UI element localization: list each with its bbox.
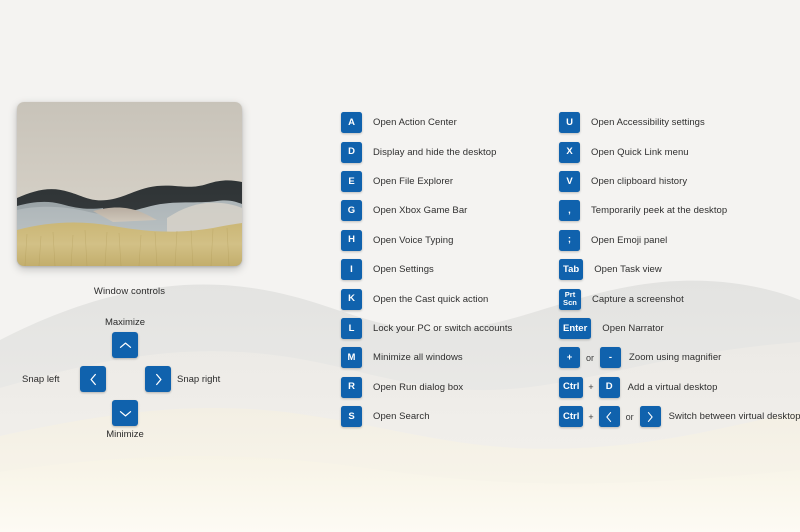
- key-cap[interactable]: ,: [559, 200, 580, 221]
- shortcut-description: Temporarily peek at the desktop: [591, 205, 727, 216]
- key-cap[interactable]: Ctrl: [559, 377, 583, 398]
- key-label: D: [348, 147, 355, 157]
- key-chevron-left-icon[interactable]: [599, 406, 620, 427]
- snap-left-caption: Snap left: [22, 374, 60, 385]
- shortcut-row: +or-Zoom using magnifier: [559, 343, 800, 372]
- key-joiner-plus: +: [583, 382, 598, 392]
- shortcut-description: Open Emoji panel: [591, 235, 667, 246]
- key-joiner-or: or: [580, 353, 600, 363]
- wallpaper-preview: [17, 102, 242, 266]
- shortcuts-poster: Window controls Maximize Snap left Snap …: [0, 0, 800, 532]
- shortcut-description: Open Settings: [373, 264, 434, 275]
- shortcut-row: AOpen Action Center: [341, 108, 512, 137]
- key-cap[interactable]: PrtScn: [559, 289, 581, 310]
- key-cap[interactable]: ;: [559, 230, 580, 251]
- key-label: ,: [568, 206, 571, 216]
- key-label: -: [609, 353, 612, 363]
- chevron-up-icon: [119, 341, 132, 350]
- shortcut-row: UOpen Accessibility settings: [559, 108, 800, 137]
- shortcut-description: Open Xbox Game Bar: [373, 205, 467, 216]
- shortcut-row: HOpen Voice Typing: [341, 226, 512, 255]
- key-label: ;: [568, 235, 571, 245]
- shortcut-row: Ctrl+orSwitch between virtual desktops: [559, 402, 800, 431]
- shortcut-description: Switch between virtual desktops: [669, 411, 800, 422]
- shortcut-description: Open the Cast quick action: [373, 294, 488, 305]
- key-cap[interactable]: E: [341, 171, 362, 192]
- key-cap[interactable]: U: [559, 112, 580, 133]
- window-controls-panel: Window controls Maximize Snap left Snap …: [0, 0, 300, 532]
- shortcut-description: Open Search: [373, 411, 430, 422]
- key-label: I: [350, 265, 353, 275]
- shortcut-row: EnterOpen Narrator: [559, 314, 800, 343]
- shortcut-row: XOpen Quick Link menu: [559, 137, 800, 166]
- chevron-left-icon: [89, 373, 98, 386]
- key-label: G: [348, 206, 355, 216]
- shortcut-description: Open Action Center: [373, 117, 457, 128]
- shortcut-description: Open File Explorer: [373, 176, 453, 187]
- key-cap[interactable]: X: [559, 142, 580, 163]
- shortcut-description: Capture a screenshot: [592, 294, 684, 305]
- shortcut-row: PrtScnCapture a screenshot: [559, 284, 800, 313]
- chevron-down-icon: [119, 409, 132, 418]
- shortcut-row: MMinimize all windows: [341, 343, 512, 372]
- shortcut-row: Ctrl+DAdd a virtual desktop: [559, 373, 800, 402]
- key-label: U: [566, 118, 573, 128]
- snap-left-key[interactable]: [80, 366, 106, 392]
- key-label: Ctrl: [563, 382, 579, 392]
- key-cap[interactable]: Ctrl: [559, 406, 583, 427]
- shortcut-description: Minimize all windows: [373, 352, 463, 363]
- shortcut-description: Open Run dialog box: [373, 382, 463, 393]
- key-label: K: [348, 294, 355, 304]
- maximize-caption: Maximize: [0, 317, 250, 328]
- chevron-right-icon: [154, 373, 163, 386]
- shortcut-description: Open Quick Link menu: [591, 147, 689, 158]
- shortcut-description: Zoom using magnifier: [629, 352, 721, 363]
- maximize-key[interactable]: [112, 332, 138, 358]
- key-cap[interactable]: Tab: [559, 259, 583, 280]
- key-label: Tab: [563, 265, 579, 275]
- key-cap[interactable]: -: [600, 347, 621, 368]
- shortcut-list-left: AOpen Action CenterDDisplay and hide the…: [341, 108, 512, 431]
- key-label: V: [566, 177, 572, 187]
- shortcut-row: EOpen File Explorer: [341, 167, 512, 196]
- key-label: +: [567, 353, 573, 363]
- shortcut-description: Display and hide the desktop: [373, 147, 496, 158]
- key-label: R: [348, 382, 355, 392]
- key-label: L: [349, 324, 355, 334]
- shortcut-row: DDisplay and hide the desktop: [341, 137, 512, 166]
- shortcut-description: Open clipboard history: [591, 176, 687, 187]
- shortcut-description: Open Accessibility settings: [591, 117, 705, 128]
- shortcut-row: SOpen Search: [341, 402, 512, 431]
- shortcut-row: IOpen Settings: [341, 255, 512, 284]
- key-label: D: [606, 382, 613, 392]
- shortcut-row: GOpen Xbox Game Bar: [341, 196, 512, 225]
- key-label: X: [566, 147, 572, 157]
- shortcut-description: Add a virtual desktop: [628, 382, 718, 393]
- window-controls-caption: Window controls: [0, 286, 259, 297]
- shortcut-row: ,Temporarily peek at the desktop: [559, 196, 800, 225]
- key-joiner-or: or: [620, 412, 640, 422]
- key-label: Enter: [563, 324, 587, 334]
- shortcut-row: VOpen clipboard history: [559, 167, 800, 196]
- shortcut-description: Lock your PC or switch accounts: [373, 323, 512, 334]
- key-cap[interactable]: D: [341, 142, 362, 163]
- arrow-key-cluster: Maximize Snap left Snap right: [0, 312, 259, 442]
- key-joiner-plus: +: [583, 412, 598, 422]
- key-cap[interactable]: K: [341, 289, 362, 310]
- minimize-caption: Minimize: [0, 429, 250, 440]
- key-label: H: [348, 235, 355, 245]
- shortcut-description: Open Narrator: [602, 323, 663, 334]
- key-label: A: [348, 118, 355, 128]
- key-cap[interactable]: M: [341, 347, 362, 368]
- key-cap[interactable]: G: [341, 200, 362, 221]
- key-cap[interactable]: H: [341, 230, 362, 251]
- shortcut-row: KOpen the Cast quick action: [341, 284, 512, 313]
- chevron-left-icon: [605, 411, 613, 423]
- shortcut-row: LLock your PC or switch accounts: [341, 314, 512, 343]
- shortcut-row: ;Open Emoji panel: [559, 226, 800, 255]
- shortcut-list-right: UOpen Accessibility settingsXOpen Quick …: [559, 108, 800, 431]
- shortcut-row: TabOpen Task view: [559, 255, 800, 284]
- minimize-key[interactable]: [112, 400, 138, 426]
- key-cap[interactable]: A: [341, 112, 362, 133]
- snap-right-caption: Snap right: [177, 374, 220, 385]
- key-cap[interactable]: R: [341, 377, 362, 398]
- key-cap[interactable]: D: [599, 377, 620, 398]
- shortcut-row: ROpen Run dialog box: [341, 373, 512, 402]
- key-label-second-line: Scn: [563, 299, 577, 307]
- snap-right-key[interactable]: [145, 366, 171, 392]
- key-label: S: [348, 412, 354, 422]
- key-label: Ctrl: [563, 412, 579, 422]
- key-cap[interactable]: L: [341, 318, 362, 339]
- key-chevron-right-icon[interactable]: [640, 406, 661, 427]
- key-label: M: [348, 353, 356, 363]
- key-cap[interactable]: I: [341, 259, 362, 280]
- key-cap[interactable]: S: [341, 406, 362, 427]
- key-cap[interactable]: Enter: [559, 318, 591, 339]
- chevron-right-icon: [646, 411, 654, 423]
- key-label: E: [348, 177, 354, 187]
- key-cap[interactable]: V: [559, 171, 580, 192]
- key-cap[interactable]: +: [559, 347, 580, 368]
- shortcut-description: Open Voice Typing: [373, 235, 453, 246]
- shortcut-description: Open Task view: [594, 264, 662, 275]
